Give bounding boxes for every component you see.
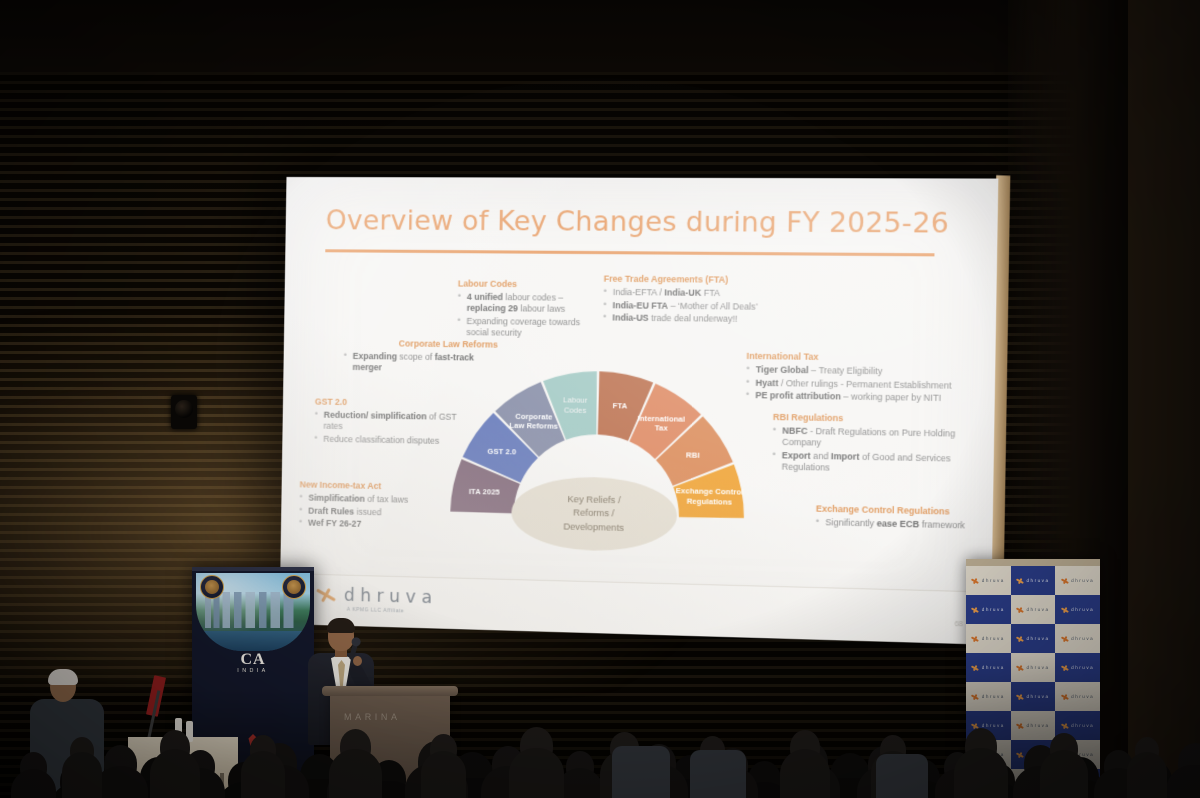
donut-segment-label: ITA 2025 — [469, 487, 500, 497]
callout-bullets: India-EFTA / India-UK FTAIndia-EU FTA – … — [603, 287, 762, 325]
venue-label: MARINA — [344, 712, 401, 722]
callout-bullet: Wef FY 26-27 — [299, 517, 450, 532]
donut-segment-label: International — [638, 413, 686, 423]
callout-bullet: NBFC - Draft Regulations on Pure Holding… — [772, 425, 973, 451]
callout-bullet: Reduce classification disputes — [314, 433, 465, 447]
table-leg — [220, 773, 224, 798]
callout-heading: GST 2.0 — [315, 396, 466, 408]
callout-bullet: 4 unified labour codes – replacing 29 la… — [457, 292, 589, 316]
seated-hair — [48, 669, 78, 685]
logo-tagline: A KPMG LLC Affiliate — [347, 607, 405, 615]
callout-bullets: Simplification of tax lawsDraft Rules is… — [299, 492, 451, 532]
callout-exchange-control-regulations: Exchange Control Regulations Significant… — [816, 503, 988, 533]
slide-page-number: 68 — [954, 621, 963, 629]
callout-bullet: India-US trade deal underway!! — [603, 312, 762, 325]
hub-line-1: Key Reliefs / — [567, 494, 620, 505]
callout-bullet: Reduction/ simplification of GST rates — [314, 410, 466, 435]
logo-text: dhruva — [344, 586, 438, 609]
table-leg — [136, 773, 140, 798]
semicircle-donut-diagram: ITA 2025GST 2.0CorporateLaw ReformsLabou… — [448, 367, 748, 536]
callout-new-income-tax-act: New Income-tax Act Simplification of tax… — [299, 479, 451, 533]
donut-segment-label: GST 2.0 — [487, 446, 516, 456]
callout-bullets: Significantly ease ECB framework — [816, 517, 988, 532]
donut-segment-label: Corporate — [515, 411, 552, 421]
presentation-slide: Overview of Key Changes during FY 2025-2… — [280, 177, 999, 645]
projection-screen: Overview of Key Changes during FY 2025-2… — [280, 177, 999, 645]
callout-bullet: India-EFTA / India-UK FTA — [603, 287, 762, 300]
donut-segment-label: RBI — [686, 450, 700, 459]
callout-bullet: Expanding coverage towards social securi… — [457, 315, 589, 339]
callout-heading: New Income-tax Act — [300, 479, 451, 492]
step-and-repeat-backdrop: dhruvadhruvadhruvadhruvadhruvadhruvadhru… — [966, 559, 1100, 798]
donut-segment-label: Regulations — [687, 496, 733, 506]
callout-bullet: Significantly ease ECB framework — [816, 517, 988, 532]
callout-bullets: NBFC - Draft Regulations on Pure Holding… — [772, 425, 974, 476]
callout-heading: Free Trade Agreements (FTA) — [604, 274, 763, 286]
callout-heading: RBI Regulations — [773, 412, 974, 426]
seated-body — [30, 699, 104, 798]
slide-title: Overview of Key Changes during FY 2025-2… — [326, 205, 962, 240]
callout-heading: Labour Codes — [458, 278, 589, 289]
callout-rbi-regulations: RBI Regulations NBFC - Draft Regulations… — [772, 412, 974, 478]
title-divider — [325, 249, 934, 256]
callout-bullet: India-EU FTA – ‘Mother of All Deals’ — [603, 300, 762, 313]
callout-heading: Exchange Control Regulations — [816, 503, 988, 517]
wall-speaker-icon — [171, 395, 197, 429]
callout-free-trade-agreements: Free Trade Agreements (FTA) India-EFTA /… — [603, 274, 763, 327]
backdrop-shadow — [966, 559, 1100, 798]
donut-segment-label: Tax — [655, 423, 669, 432]
star-icon — [316, 585, 335, 605]
callout-labour-codes: Labour Codes 4 unified labour codes – re… — [457, 278, 589, 340]
lectern: MARINA — [330, 690, 450, 798]
callout-bullets: 4 unified labour codes – replacing 29 la… — [457, 292, 589, 340]
hub-line-2: Reforms / — [573, 508, 614, 519]
callout-bullet: Tiger Global – Treaty Eligibility — [746, 364, 970, 378]
callout-bullets: Tiger Global – Treaty EligibilityHyatt /… — [746, 364, 971, 404]
callout-heading: Corporate Law Reforms — [344, 338, 498, 350]
callout-bullets: Reduction/ simplification of GST ratesRe… — [314, 410, 466, 447]
water-bottle — [175, 718, 182, 742]
callout-bullet: PE profit attribution – working paper by… — [746, 390, 970, 405]
speaker-hand — [353, 656, 362, 666]
donut-segment-label: Labour — [563, 395, 588, 405]
side-table — [128, 737, 238, 798]
donut-segment-label: Law Reforms — [509, 421, 558, 431]
conference-hall-photo: Overview of Key Changes during FY 2025-2… — [0, 0, 1200, 798]
hub-line-3: Developments — [563, 521, 624, 533]
donut-segment-label: Codes — [564, 405, 587, 415]
speaker-hair — [327, 618, 355, 633]
seated-person — [26, 672, 108, 798]
callout-heading: International Tax — [746, 351, 970, 364]
donut-segment-label: FTA — [613, 401, 628, 410]
water-bottle — [186, 721, 193, 742]
callout-gst: GST 2.0 Reduction/ simplification of GST… — [314, 396, 466, 448]
dhruva-logo: dhruva A KPMG LLC Affiliate — [316, 585, 438, 608]
callout-bullet: Export and Import of Good and Services R… — [772, 449, 973, 476]
callout-international-tax: International Tax Tiger Global – Treaty … — [746, 351, 971, 406]
